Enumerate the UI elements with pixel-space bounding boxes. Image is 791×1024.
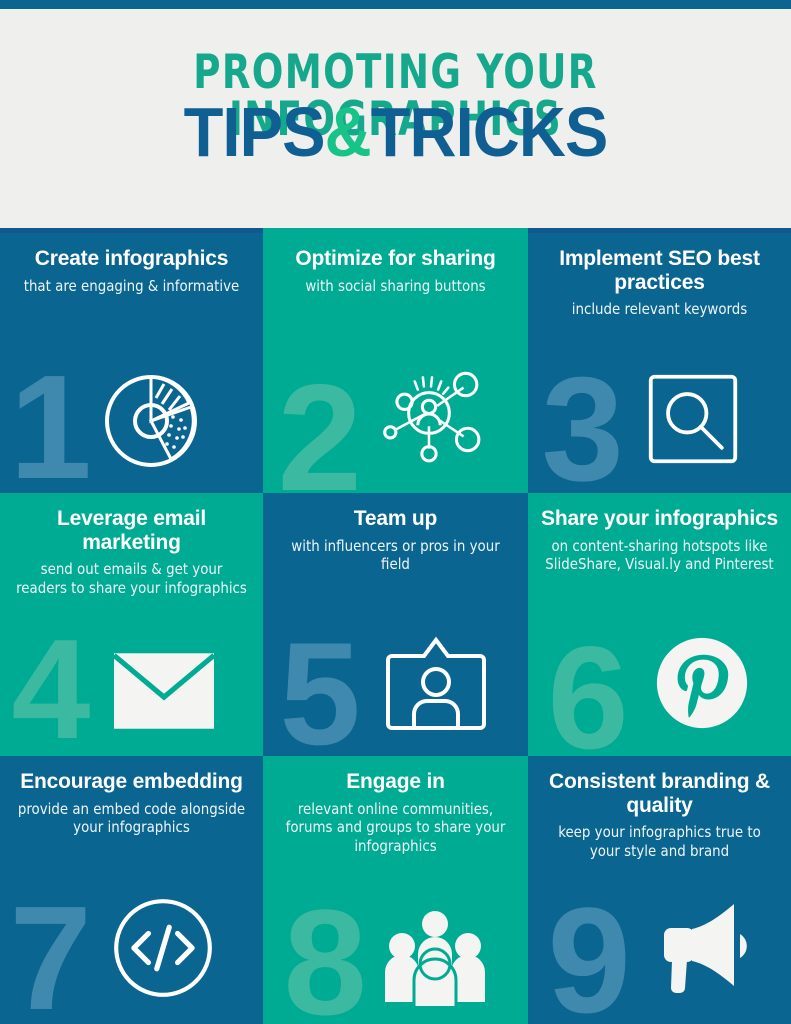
tip-card-4: Leverage email marketing send out emails… (0, 493, 263, 756)
infographic-page: PROMOTING YOUR INFOGRAPHICS TIPS&TRICKS … (0, 0, 791, 1024)
tip-card-5: Team up with influencers or pros in your… (263, 493, 528, 756)
tip-heading: Create infographics (10, 247, 253, 271)
tip-card-8: Engage in relevant online communities, f… (263, 756, 528, 1024)
envelope-mail-icon (113, 652, 215, 730)
tip-number-watermark: 7 (10, 890, 92, 1024)
magnifier-search-icon (645, 371, 741, 467)
tip-heading: Share your infographics (538, 507, 781, 531)
tip-number-watermark: 9 (548, 891, 631, 1024)
tip-number-watermark: 1 (10, 359, 92, 493)
code-embed-icon (111, 896, 215, 1000)
tip-heading: Optimize for sharing (273, 247, 518, 271)
tip-heading: Consistent branding & quality (538, 770, 781, 817)
tip-subtext: relevant online communities, forums and … (278, 800, 513, 857)
tip-number-watermark: 3 (542, 361, 624, 493)
tip-subtext: include relevant keywords (543, 300, 776, 319)
tip-number-watermark: 6 (548, 630, 629, 756)
pinterest-icon (655, 636, 749, 730)
tip-subtext: keep your infographics true to your styl… (543, 823, 776, 861)
header-banner: PROMOTING YOUR INFOGRAPHICS TIPS&TRICKS (0, 9, 791, 228)
tip-card-2: Optimize for sharing with social sharing… (263, 233, 528, 493)
tip-number-watermark: 2 (278, 368, 363, 493)
top-accent-bar (0, 0, 791, 9)
tip-number-watermark: 5 (280, 626, 361, 756)
tip-subtext: provide an embed code alongside your inf… (15, 800, 248, 838)
tip-card-7: Encourage embedding provide an embed cod… (0, 756, 263, 1024)
person-badge-icon (386, 634, 486, 734)
tip-number-watermark: 4 (12, 624, 91, 756)
tip-heading: Leverage email marketing (10, 507, 253, 554)
tip-subtext: with social sharing buttons (278, 277, 513, 296)
tip-number-watermark: 8 (284, 893, 367, 1024)
tip-subtext: that are engaging & informative (15, 277, 248, 296)
tip-heading: Team up (273, 507, 518, 531)
tip-subtext: on content-sharing hotspots like SlideSh… (543, 537, 776, 575)
donut-chart-icon (101, 371, 201, 471)
tip-subtext: with influencers or pros in your field (278, 537, 513, 575)
title-tips: TIPS (184, 93, 325, 171)
tip-card-3: Implement SEO best practices include rel… (528, 233, 791, 493)
tip-heading: Implement SEO best practices (538, 247, 781, 294)
tip-subtext: send out emails & get your readers to sh… (15, 560, 248, 598)
tip-heading: Engage in (273, 770, 518, 794)
people-group-icon (380, 906, 490, 1006)
page-title-secondary: TIPS&TRICKS (28, 97, 764, 167)
tip-card-6: Share your infographics on content-shari… (528, 493, 791, 756)
tips-grid: Create infographics that are engaging & … (0, 233, 791, 1024)
title-ampersand: & (325, 93, 371, 171)
tip-card-1: Create infographics that are engaging & … (0, 233, 263, 493)
title-tricks: TRICKS (371, 93, 608, 171)
tip-card-9: Consistent branding & quality keep your … (528, 756, 791, 1024)
social-network-share-icon (374, 357, 486, 469)
megaphone-icon (649, 898, 761, 994)
tip-heading: Encourage embedding (10, 770, 253, 794)
